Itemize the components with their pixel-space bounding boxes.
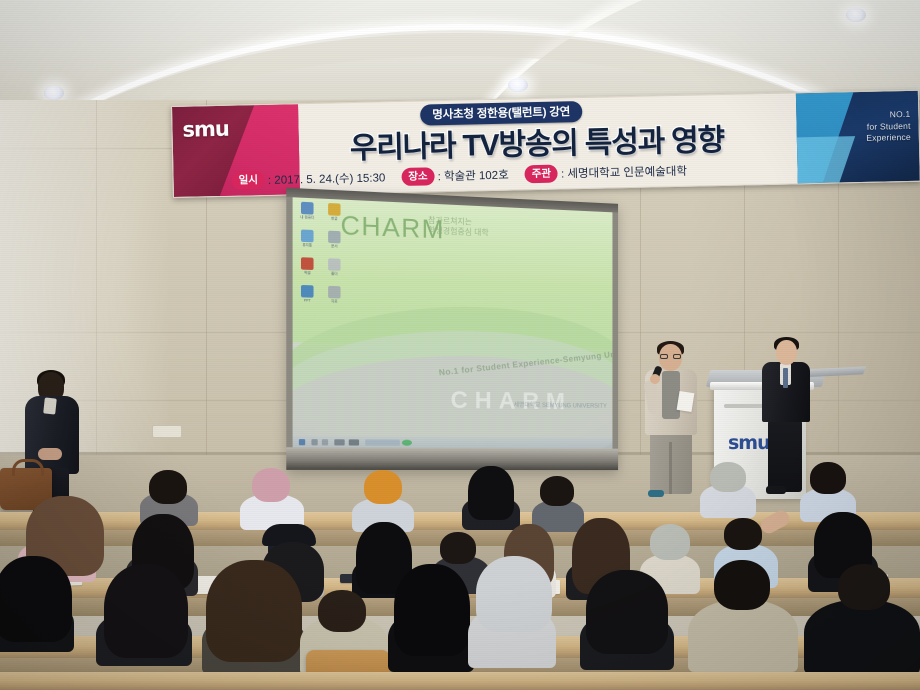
audience-head [206, 560, 302, 662]
speaker-hand [650, 374, 660, 384]
banner-info-host-label: 주관 [524, 165, 558, 184]
taskbar[interactable] [293, 436, 613, 449]
audience-head [714, 560, 770, 610]
taskbar-start-icon[interactable] [299, 439, 305, 445]
lectern-smu-logo: smu [728, 432, 770, 454]
ceiling-spotlight [508, 78, 528, 92]
audience-area: UNI [0, 460, 920, 690]
banner-info-place: 장소 : 학술관 102호 [401, 166, 509, 186]
audience-head [149, 470, 187, 504]
audience-head [252, 468, 290, 502]
host-head [776, 340, 797, 365]
charm-korean-subtitle: 참가르쳐지는 학생경험중심 대학 [428, 216, 489, 239]
speaker-shirt [662, 371, 680, 419]
audience-head [0, 556, 72, 642]
desktop-icon-grid[interactable]: 내 컴퓨터 한글 휴지통 문서 엑셀 폴더 PPT 자료 [297, 202, 347, 311]
taskbar-window-button[interactable] [365, 439, 400, 445]
banner-info-date-label: 일시 [231, 171, 265, 190]
list-item [688, 600, 798, 672]
audience-head [394, 564, 470, 656]
banner-info-date: 일시 : 2017. 5. 24.(수) 15:30 [231, 168, 385, 189]
taskbar-icon[interactable] [311, 439, 317, 445]
audience-head [650, 524, 690, 560]
speaker-notes [677, 391, 695, 412]
banner-info-place-label: 장소 [401, 167, 435, 186]
banner-tagline-line-2: for Student [866, 120, 911, 132]
audience-head [540, 476, 574, 506]
taskbar-icon[interactable] [334, 439, 344, 445]
banner-smu-logo: smu [182, 117, 229, 142]
desktop-icon[interactable]: PPT [297, 285, 318, 310]
hoodie-hood [476, 556, 552, 632]
audience-head [810, 462, 846, 494]
list-item [804, 600, 920, 674]
desktop-icon[interactable]: 폴더 [324, 258, 345, 283]
audience-head [104, 564, 188, 658]
event-banner: smu NO.1 for Student Experience 명사초청 정한용… [171, 90, 920, 198]
audience-head [318, 590, 366, 632]
audience-head [440, 532, 476, 564]
desktop-icon[interactable]: 자료 [324, 286, 345, 311]
taskbar-icon[interactable] [402, 440, 412, 446]
banner-info-place-value: : 학술관 102호 [437, 167, 508, 185]
banner-badge: 명사초청 정한용(탤런트) 강연 [420, 101, 582, 126]
standing-attendant-hands [38, 448, 62, 460]
semyung-corner-mark: 세명대학교 SEMYUNG UNIVERSITY [514, 402, 607, 411]
audience-head [838, 564, 890, 610]
taskbar-icon[interactable] [349, 439, 359, 445]
desktop-icon[interactable]: 엑셀 [297, 257, 318, 282]
desk-row-4 [0, 672, 920, 690]
desktop-icon[interactable]: 휴지통 [297, 229, 318, 254]
audience-head [710, 462, 746, 492]
desktop-icon[interactable]: 내 컴퓨터 [297, 202, 318, 228]
taskbar-icon[interactable] [322, 439, 328, 445]
banner-info-host-value: : 세명대학교 인문예술대학 [561, 163, 687, 182]
wall-switch-panel[interactable] [152, 425, 182, 438]
lecture-hall-photo: smu NO.1 for Student Experience 명사초청 정한용… [0, 0, 920, 690]
banner-tagline-line-1: NO.1 [866, 109, 911, 121]
speaker-glasses [660, 354, 681, 359]
audience-head [468, 466, 514, 520]
ceiling-spotlight [44, 86, 64, 100]
desktop-icon[interactable]: 문서 [324, 230, 345, 255]
projection-screen: CHARM 참가르쳐지는 학생경험중심 대학 No.1 for Student … [286, 188, 618, 470]
host-tie [783, 368, 788, 388]
banner-info-host: 주관 : 세명대학교 인문예술대학 [524, 162, 687, 184]
ceiling-spotlight [846, 8, 866, 22]
audience-head [586, 570, 668, 654]
standing-attendant-collar [43, 397, 57, 414]
audience-head [724, 518, 762, 550]
banner-tagline: NO.1 for Student Experience [866, 109, 911, 144]
audience-head [364, 470, 402, 504]
banner-tagline-line-3: Experience [866, 132, 911, 144]
desktop-icon[interactable]: 한글 [324, 203, 345, 228]
projected-desktop: CHARM 참가르쳐지는 학생경험중심 대학 No.1 for Student … [293, 197, 613, 448]
banner-info-date-value: : 2017. 5. 24.(수) 15:30 [268, 169, 386, 188]
